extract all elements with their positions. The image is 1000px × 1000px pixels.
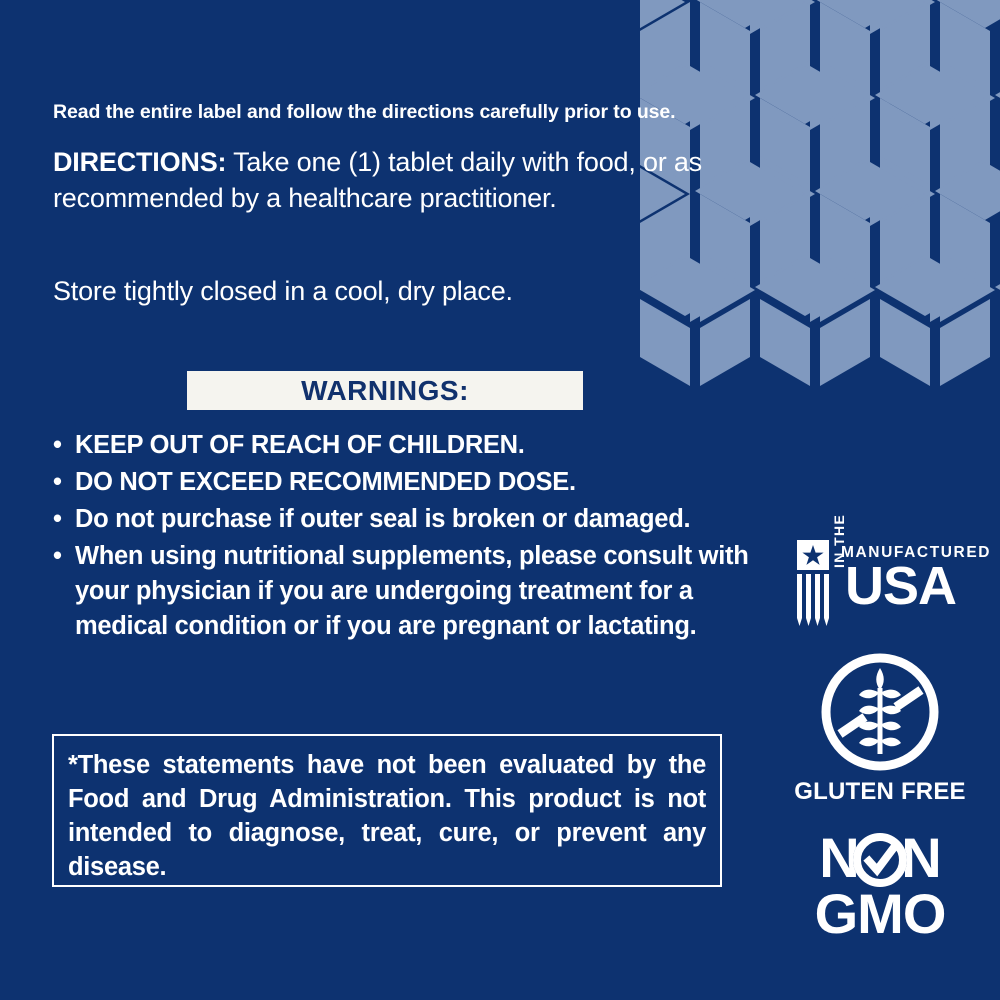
warnings-list-item: • KEEP OUT OF REACH OF CHILDREN. — [53, 428, 753, 463]
non-gmo-badge: NON GMO — [785, 828, 975, 940]
gluten-free-label: GLUTEN FREE — [785, 778, 975, 806]
bullet-icon: • — [53, 502, 75, 537]
warnings-list-item: • Do not purchase if outer seal is broke… — [53, 502, 753, 537]
warnings-list-item: • DO NOT EXCEED RECOMMENDED DOSE. — [53, 465, 753, 500]
certification-badges: MANUFACTURED IN THE USA — [785, 540, 975, 940]
fda-disclaimer-text: *These statements have not been evaluate… — [54, 736, 720, 885]
bullet-icon: • — [53, 465, 75, 500]
bullet-icon: • — [53, 428, 75, 463]
warnings-item-text: DO NOT EXCEED RECOMMENDED DOSE. — [75, 465, 753, 500]
non-gmo-line2: GMO — [815, 882, 946, 940]
directions-paragraph: DIRECTIONS: Take one (1) tablet daily wi… — [53, 145, 743, 217]
warnings-list: • KEEP OUT OF REACH OF CHILDREN. • DO NO… — [53, 428, 753, 646]
gluten-free-badge: GLUTEN FREE — [785, 650, 975, 806]
non-gmo-icon: NON GMO — [792, 828, 968, 940]
supplement-label-panel: Read the entire label and follow the dir… — [0, 0, 1000, 1000]
warnings-list-item: • When using nutritional supplements, pl… — [53, 539, 753, 644]
usa-badge-usa-text: USA — [845, 559, 956, 613]
usa-flag-banner-icon — [795, 540, 831, 630]
warnings-item-text: Do not purchase if outer seal is broken … — [75, 502, 753, 537]
directions-label: DIRECTIONS: — [53, 147, 226, 177]
storage-instruction: Store tightly closed in a cool, dry plac… — [53, 274, 743, 310]
warnings-item-text: When using nutritional supplements, plea… — [75, 539, 753, 644]
manufactured-in-usa-badge: MANUFACTURED IN THE USA — [795, 540, 970, 630]
read-label-instruction: Read the entire label and follow the dir… — [53, 101, 675, 124]
warnings-heading-banner: WARNINGS: — [187, 371, 583, 410]
warnings-item-text: KEEP OUT OF REACH OF CHILDREN. — [75, 428, 753, 463]
bullet-icon: • — [53, 539, 75, 644]
warnings-heading-text: WARNINGS: — [301, 375, 469, 407]
fda-disclaimer-box: *These statements have not been evaluate… — [52, 734, 722, 887]
gluten-free-icon — [818, 650, 942, 774]
